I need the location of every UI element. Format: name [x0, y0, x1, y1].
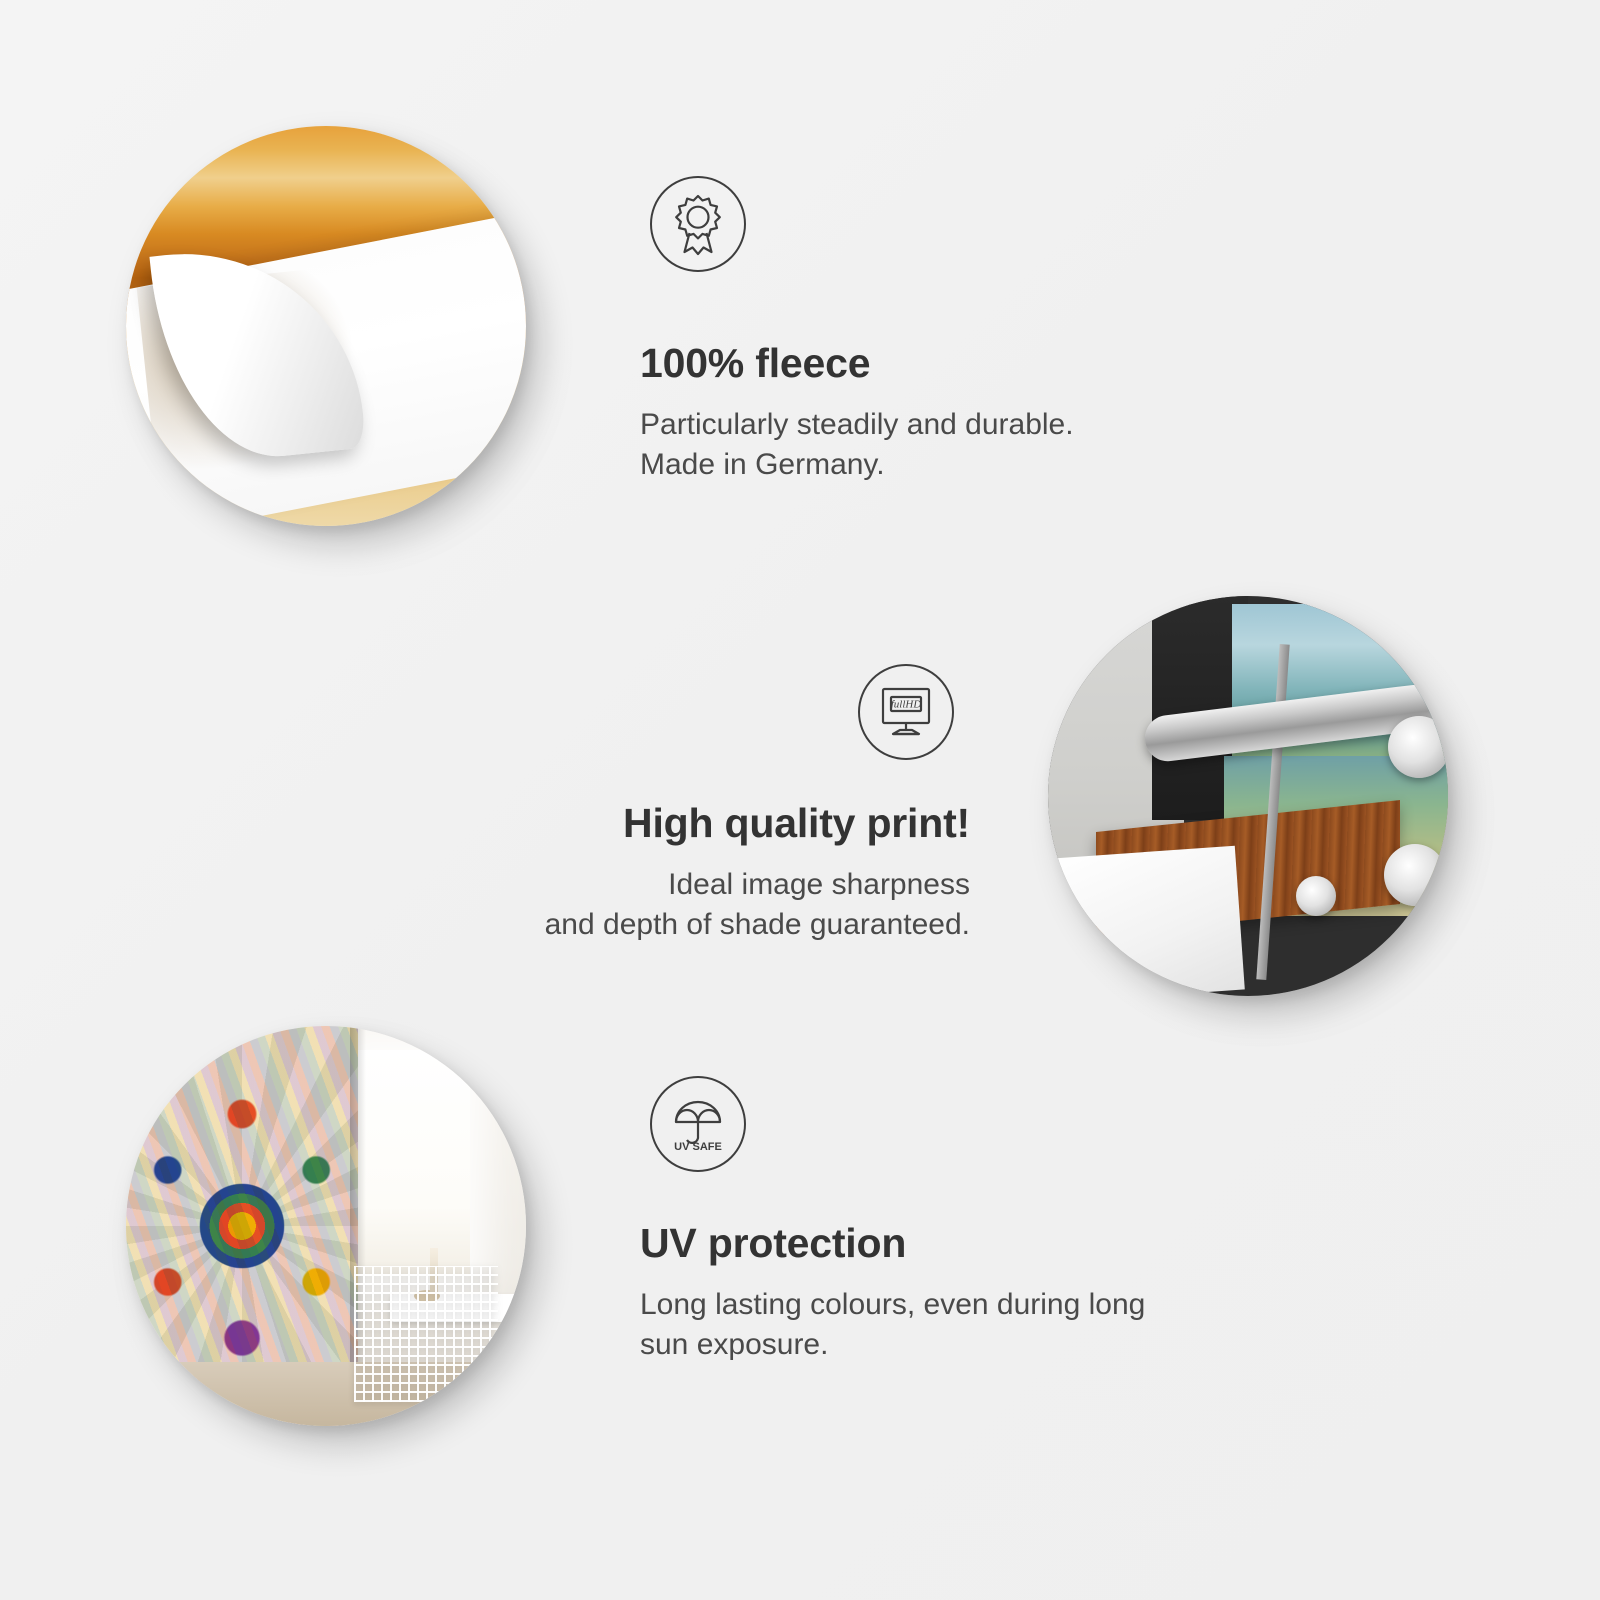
mandala-wallpaper-room-photo	[126, 1026, 526, 1426]
feature-text-print: High quality print! Ideal image sharpnes…	[330, 800, 970, 944]
feature-title-fleece: 100% fleece	[640, 340, 1400, 387]
uv-safe-icon-label: UV SAFE	[674, 1141, 722, 1153]
printer-wheel	[1296, 876, 1336, 916]
feature-text-fleece: 100% fleece Particularly steadily and du…	[640, 340, 1400, 484]
printer-wheel	[1384, 844, 1446, 906]
feature-text-uv: UV protection Long lasting colours, even…	[640, 1220, 1400, 1364]
feature-body-uv: Long lasting colours, even during long s…	[640, 1285, 1400, 1364]
fullhd-monitor-icon: fullHD	[858, 664, 954, 760]
large-format-printer-photo	[1048, 596, 1448, 996]
fullhd-icon-label: fullHD	[891, 699, 922, 711]
fleece-paper-roll-photo	[126, 126, 526, 526]
feature-body-print: Ideal image sharpness and depth of shade…	[330, 865, 970, 944]
feature-body-line: Particularly steadily and durable.	[640, 405, 1400, 445]
feature-body-line: Ideal image sharpness	[330, 865, 970, 905]
feature-body-line: Long lasting colours, even during long	[640, 1285, 1400, 1325]
uv-safe-umbrella-icon: UV SAFE	[650, 1076, 746, 1172]
fleece-photo-inner	[126, 126, 526, 526]
feature-body-line: Made in Germany.	[640, 445, 1400, 485]
uv-room-window	[350, 1050, 470, 1274]
feature-title-uv: UV protection	[640, 1220, 1400, 1267]
uv-photo-inner	[126, 1026, 526, 1426]
feature-body-line: sun exposure.	[640, 1325, 1400, 1365]
printer-output-paper	[1051, 846, 1245, 996]
printer-photo-inner	[1048, 596, 1448, 996]
feature-title-print: High quality print!	[330, 800, 970, 847]
printer-wheel	[1388, 716, 1448, 778]
feature-body-fleece: Particularly steadily and durable. Made …	[640, 405, 1400, 484]
feature-body-line: and depth of shade guaranteed.	[330, 905, 970, 945]
uv-wire-chair	[354, 1266, 498, 1402]
promo-feature-page: 100% fleece Particularly steadily and du…	[0, 0, 1600, 1600]
award-ribbon-icon	[650, 176, 746, 272]
